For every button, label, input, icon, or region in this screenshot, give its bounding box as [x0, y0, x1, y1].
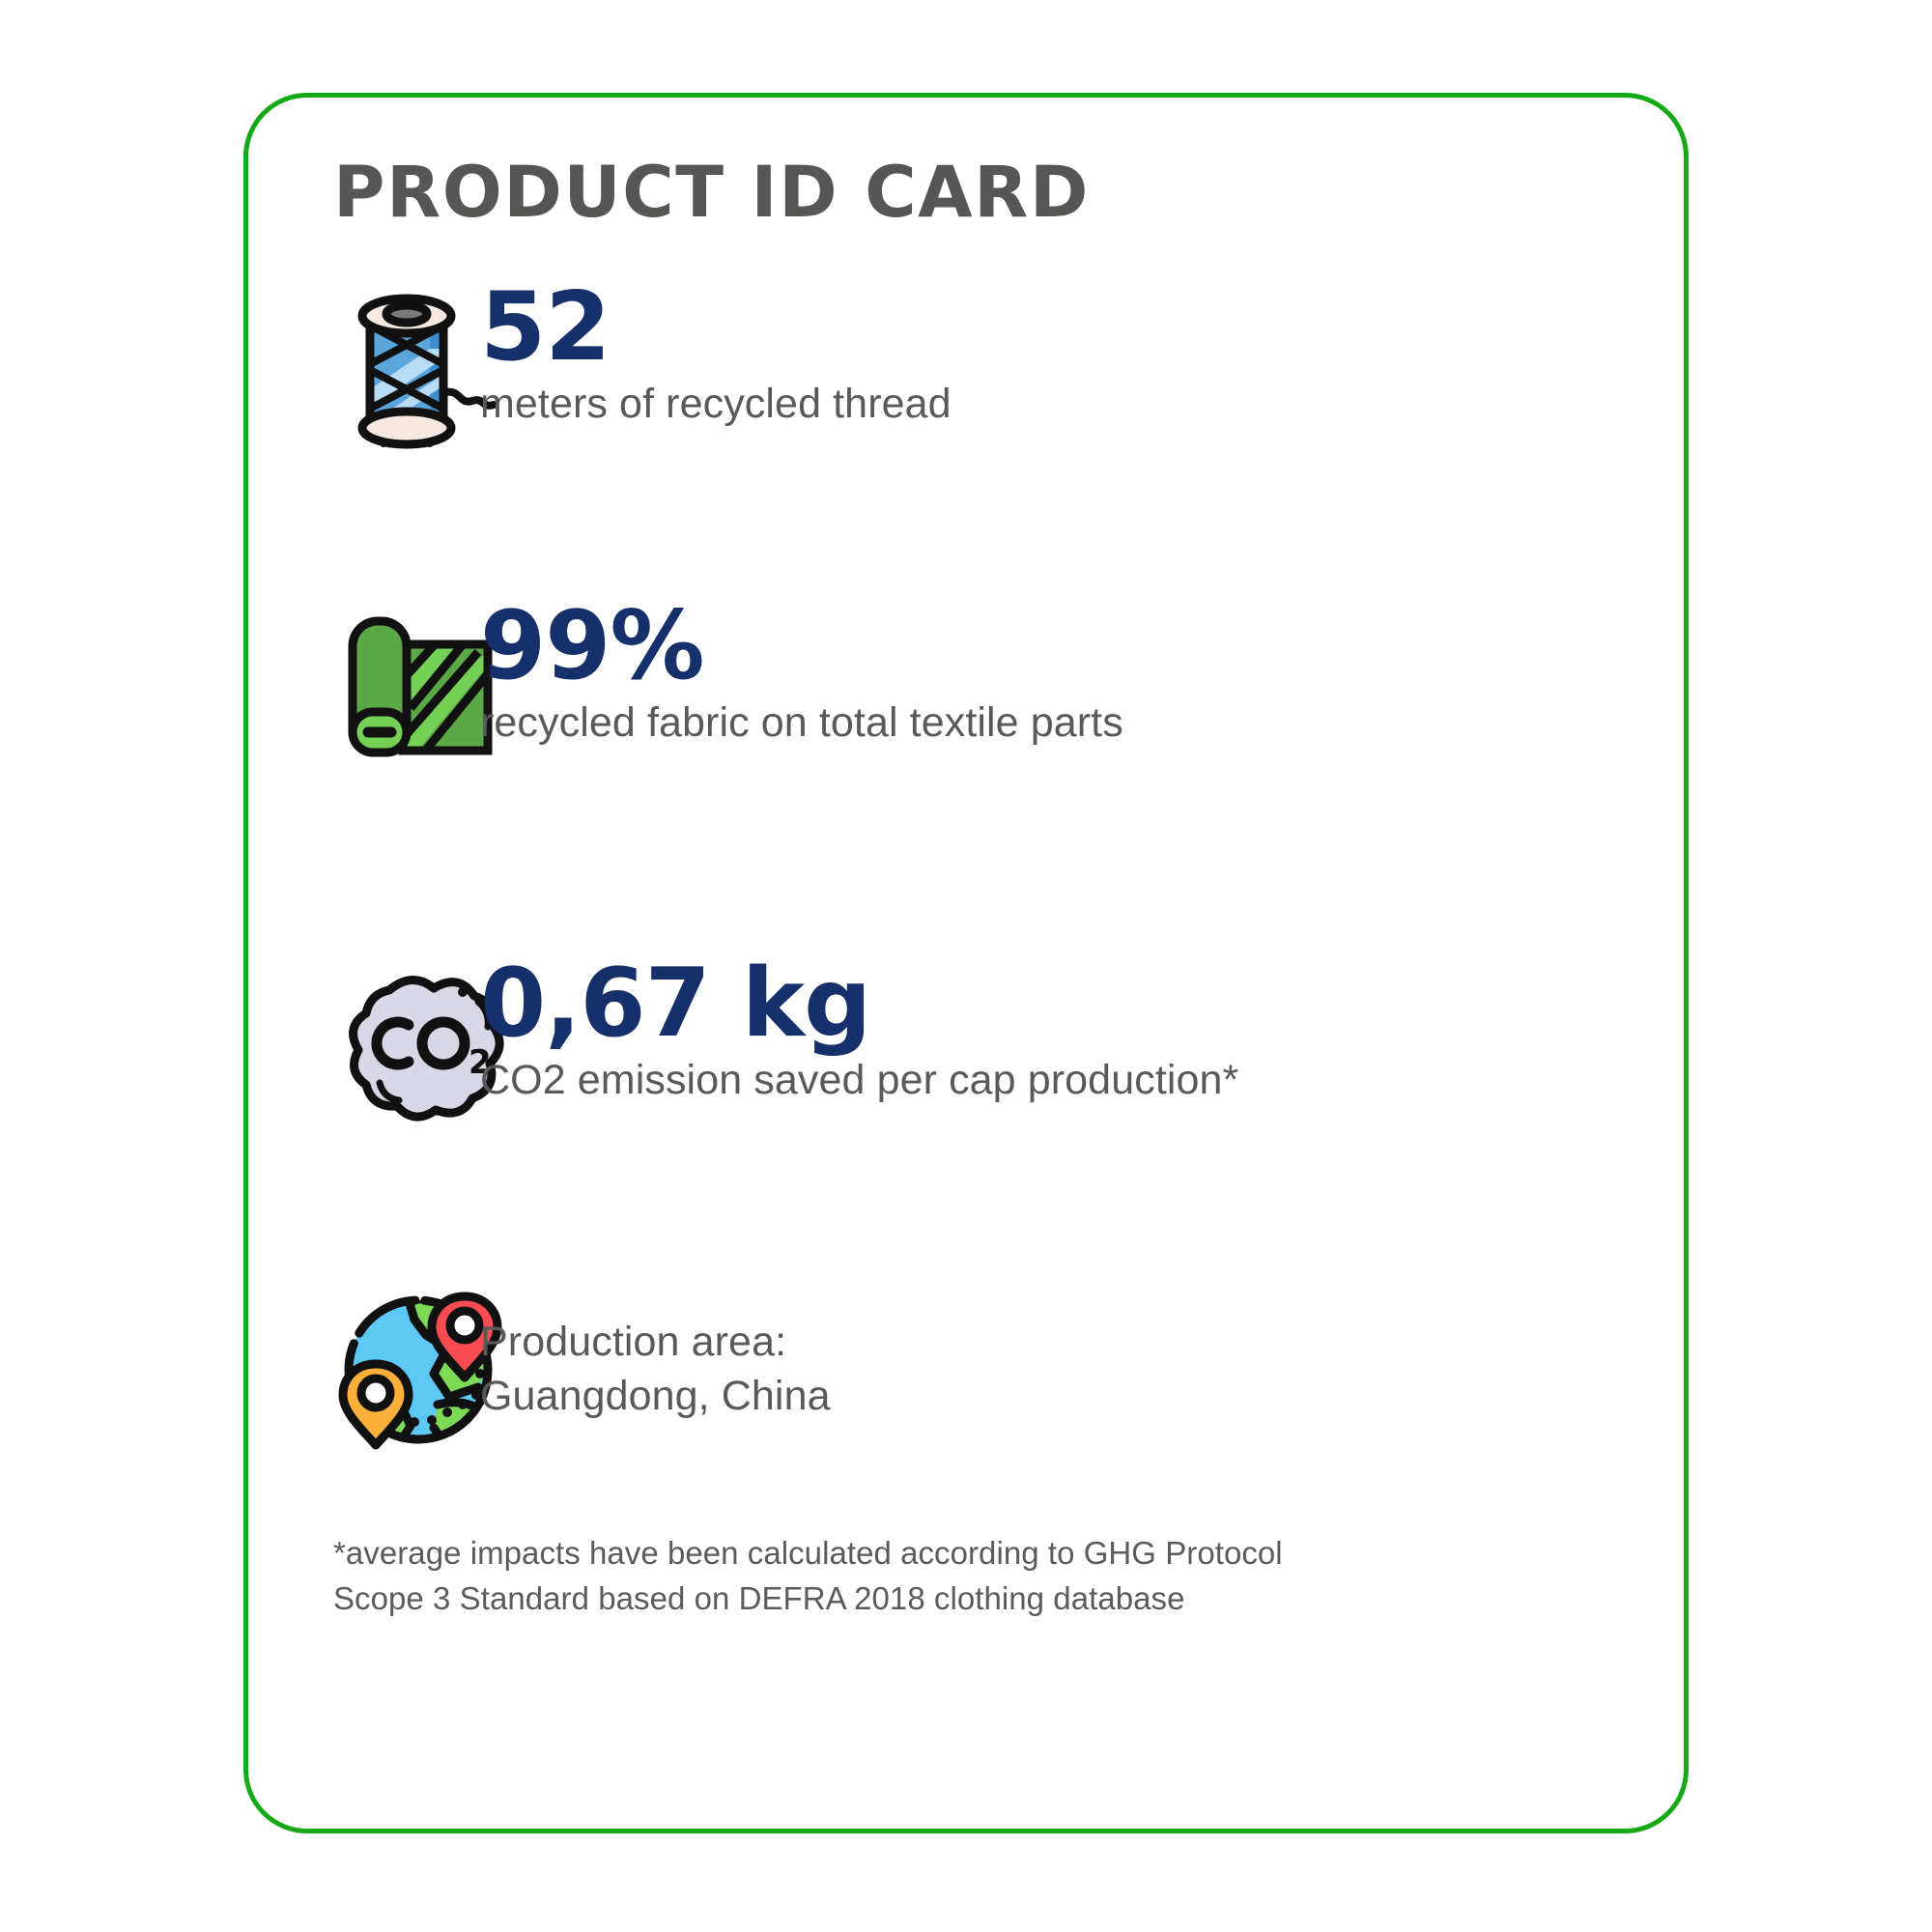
stat-text-fabric: 99% recycled fabric on total textile par…: [480, 600, 1123, 748]
stat-value-co2: 0,67 kg: [480, 957, 1238, 1050]
stat-caption-thread: meters of recycled thread: [480, 380, 952, 429]
footnote: *average impacts have been calculated ac…: [333, 1531, 1283, 1622]
screenshot-root: PRODUCT ID CARD: [0, 0, 1932, 1932]
footnote-line-2: Scope 3 Standard based on DEFRA 2018 clo…: [333, 1577, 1283, 1622]
stat-value-thread: 52: [480, 281, 952, 374]
production-area-value: Guangdong, China: [480, 1370, 831, 1424]
stat-text-production: Production area: Guangdong, China: [480, 1316, 831, 1424]
card-inner: PRODUCT ID CARD: [248, 98, 1684, 1829]
product-id-card: PRODUCT ID CARD: [243, 93, 1689, 1833]
production-area-label: Production area:: [480, 1316, 831, 1370]
stat-caption-co2: CO2 emission saved per cap production*: [480, 1056, 1238, 1105]
footnote-line-1: *average impacts have been calculated ac…: [333, 1531, 1283, 1577]
stat-text-co2: 0,67 kg CO2 emission saved per cap produ…: [480, 957, 1238, 1105]
stat-value-fabric: 99%: [480, 600, 1123, 693]
stat-caption-fabric: recycled fabric on total textile parts: [480, 698, 1123, 748]
page-title: PRODUCT ID CARD: [333, 157, 1090, 228]
stat-text-thread: 52 meters of recycled thread: [480, 281, 952, 429]
